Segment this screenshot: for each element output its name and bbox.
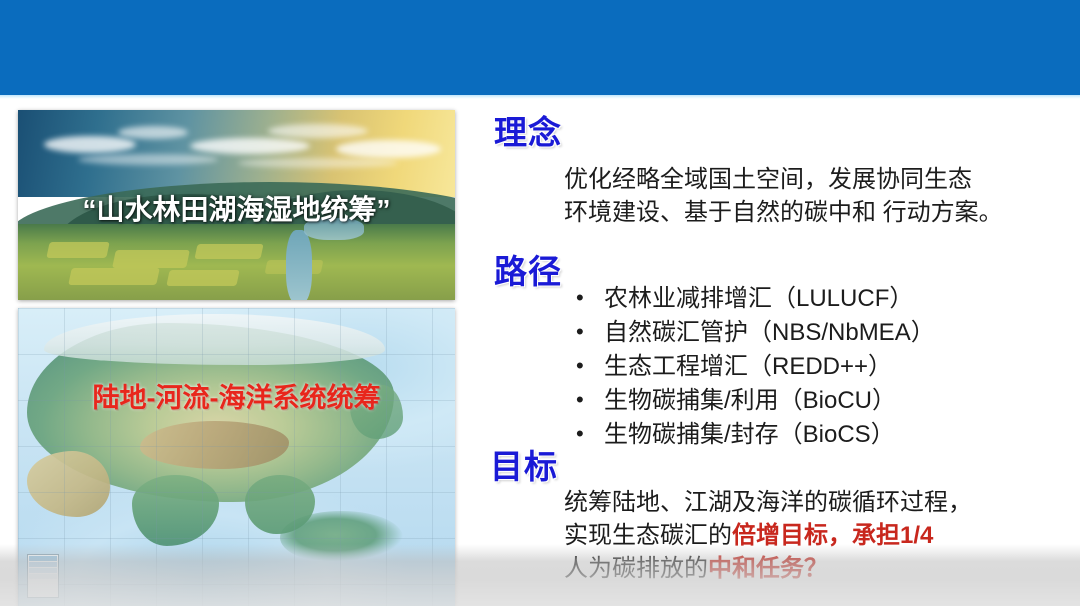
legend-swatch [29, 562, 57, 567]
cloud-shape [238, 158, 398, 168]
slide-canvas: 陆地生态系统对碳中和” 行动中的 潜在贡献 “山水林田湖海湿地统筹” [0, 0, 1080, 606]
farmland-field [18, 224, 455, 300]
field-patch [112, 250, 190, 268]
list-item: 自然碳汇管护（NBS/NbMEA） [574, 316, 935, 350]
body-line: 人为碳排放的中和任务？ [564, 552, 972, 585]
section-heading-lujing: 路径 [494, 245, 562, 293]
section-heading-mubiao: 目标 [490, 440, 558, 488]
cloud-shape [336, 140, 441, 158]
legend-swatch [29, 568, 57, 573]
field-patch [68, 268, 160, 285]
section-body-linian: 优化经略全域国土空间，发展协同生态 环境建设、基于自然的碳中和 行动方案。 [564, 163, 1003, 229]
pathway-bullet-list: 农林业减排增汇（LULUCF） 自然碳汇管护（NBS/NbMEA） 生态工程增汇… [574, 282, 935, 452]
cloud-shape [118, 126, 188, 139]
body-text-highlight: 中和任务？ [708, 555, 828, 582]
body-text-highlight: 倍增目标，承担1/4 [732, 522, 933, 549]
section-heading-linian: 理念 [494, 106, 562, 154]
body-text-plain: 人为碳排放的 [564, 555, 708, 582]
list-item: 生态工程增汇（REDD++） [574, 350, 935, 384]
legend-swatch [29, 580, 57, 585]
body-line: 统筹陆地、江湖及海洋的碳循环过程， [564, 486, 972, 519]
content-panel: 理念 优化经略全域国土空间，发展协同生态 环境建设、基于自然的碳中和 行动方案。… [478, 100, 1078, 600]
legend-swatch [29, 556, 57, 561]
cloud-shape [44, 136, 136, 153]
section-body-mubiao: 统筹陆地、江湖及海洋的碳循环过程， 实现生态碳汇的倍增目标，承担1/4 人为碳排… [564, 486, 972, 585]
list-item: 农林业减排增汇（LULUCF） [574, 282, 935, 316]
cloud-shape [190, 138, 310, 154]
cloud-shape [268, 124, 368, 138]
header-underline [0, 95, 1080, 99]
map-depth-legend [27, 554, 59, 598]
asia-relief-map: 陆地-河流-海洋系统统筹 [18, 308, 455, 606]
landscape-photo-caption: “山水林田湖海湿地统筹” [18, 188, 455, 228]
slide-header-bar [0, 0, 1080, 95]
body-line: 优化经略全域国土空间，发展协同生态 [564, 163, 1003, 196]
field-patch [166, 270, 239, 286]
landscape-photo: “山水林田湖海湿地统筹” [18, 110, 455, 300]
field-patch [46, 242, 109, 258]
body-line: 实现生态碳汇的倍增目标，承担1/4 [564, 519, 972, 552]
body-text-plain: 实现生态碳汇的 [564, 522, 732, 549]
legend-swatch [29, 574, 57, 579]
cloud-shape [78, 154, 218, 165]
map-graticule [18, 308, 455, 606]
body-line: 环境建设、基于自然的碳中和 行动方案。 [564, 196, 1003, 229]
field-patch [194, 244, 263, 259]
list-item: 生物碳捕集/封存（BioCS） [574, 418, 935, 452]
list-item: 生物碳捕集/利用（BioCU） [574, 384, 935, 418]
map-caption: 陆地-河流-海洋系统统筹 [18, 376, 455, 415]
river-shape [286, 230, 312, 300]
